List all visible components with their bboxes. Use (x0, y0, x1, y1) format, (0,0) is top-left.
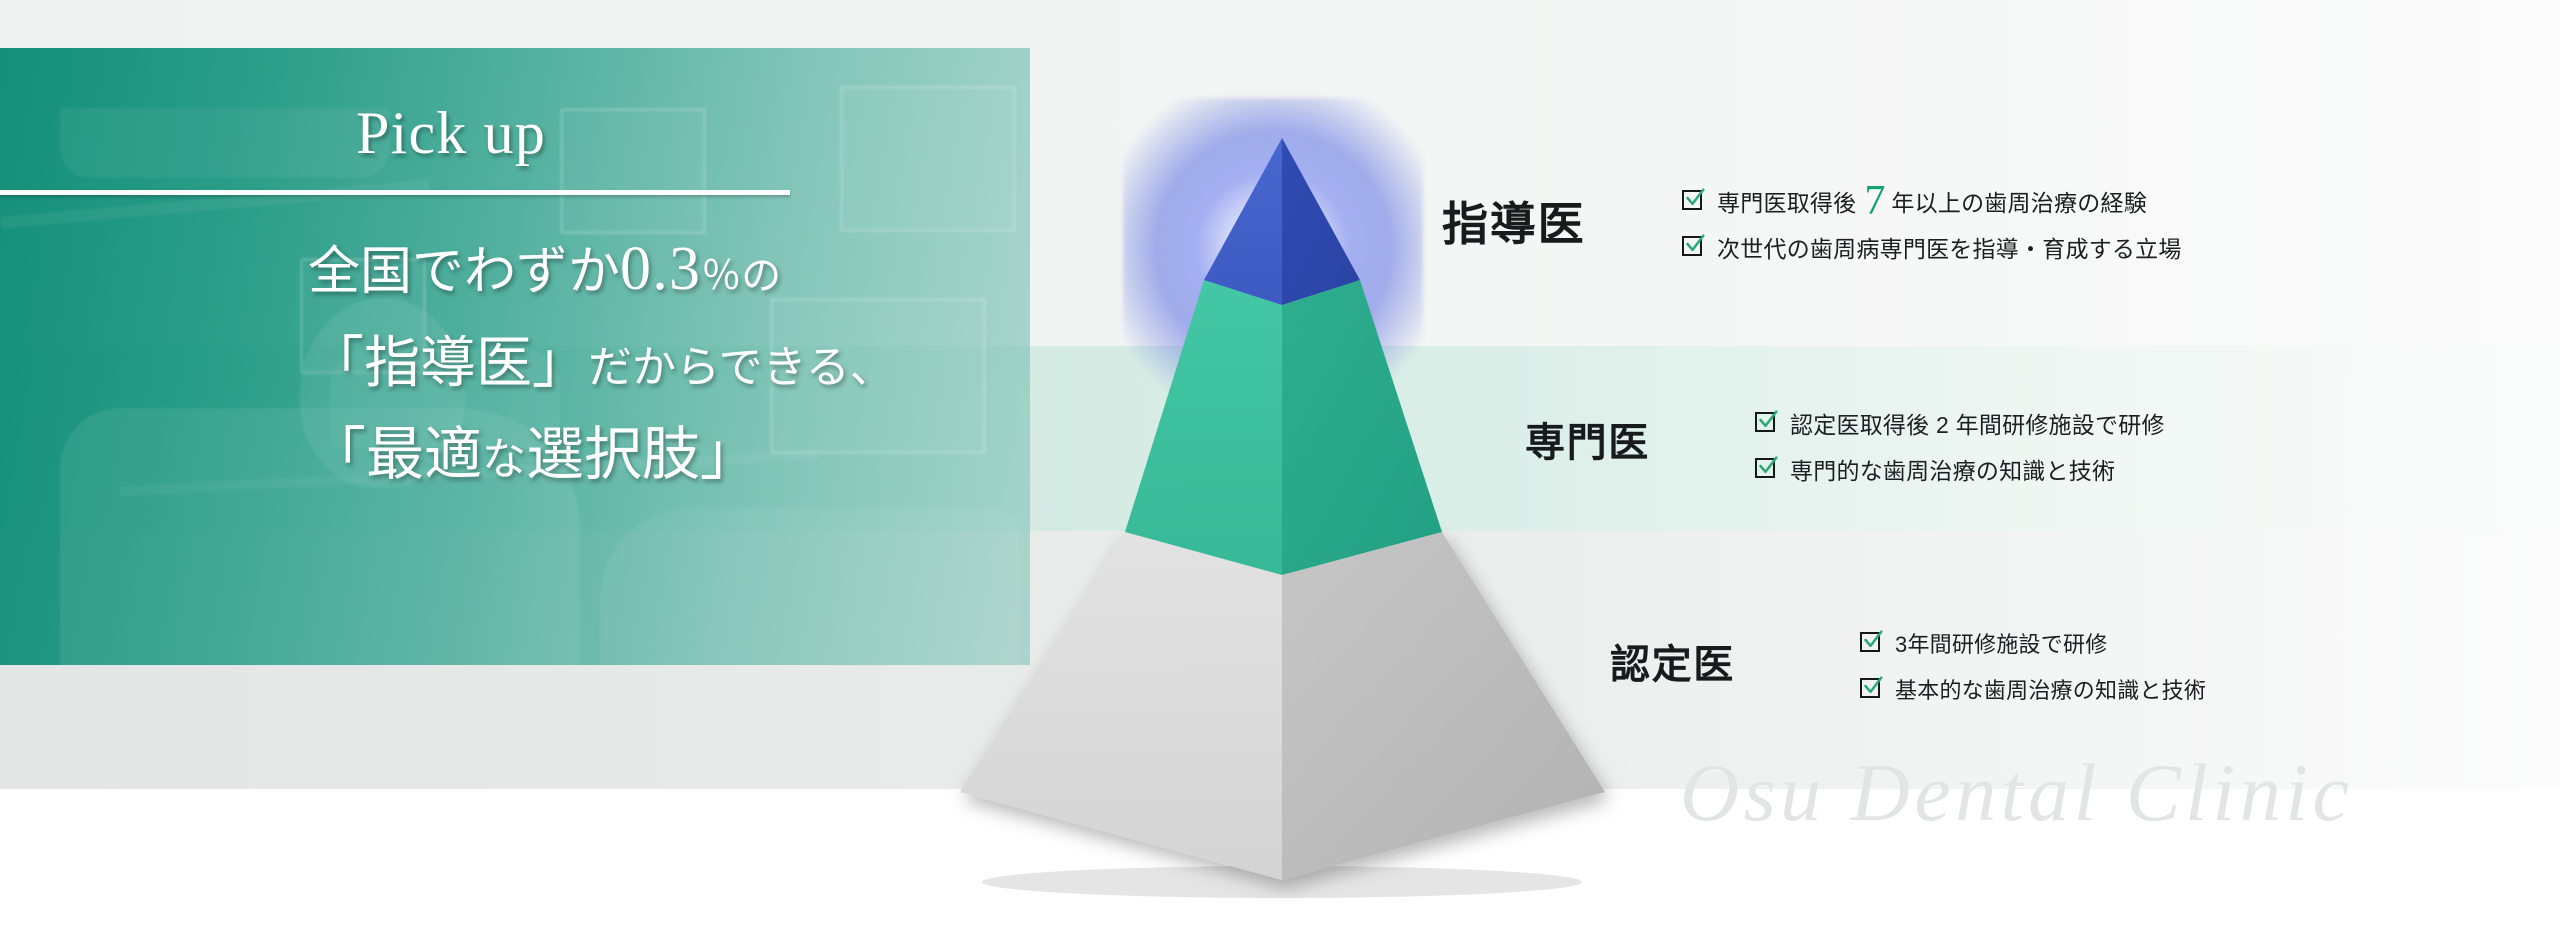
headline-3-a: 最適 (366, 422, 482, 487)
tier-group-shidoui: 指導医 専門医取得後 7 年以上の歯周治療の経験 次世代の歯周病専門医を指導・育… (1682, 178, 2182, 270)
tier-items-senmoni: 認定医取得後 2 年間研修施設で研修 専門的な歯周治療の知識と技術 (1755, 400, 2165, 492)
clinic-watermark: Osu Dental Clinic (1680, 746, 2353, 840)
checkbox-checked-icon (1682, 236, 1704, 258)
headline-3-open-quote: 「 (308, 422, 366, 487)
tier-item: 専門的な歯周治療の知識と技術 (1755, 446, 2165, 492)
tier-item-text-pre: 基本的な歯周治療の知識と技術 (1895, 673, 2206, 705)
tier-label-shidoui: 指導医 (1442, 188, 1586, 254)
tier-item-text-pre: 認定医取得後 2 年間研修施設で研修 (1790, 406, 2165, 440)
tier-item: 次世代の歯周病専門医を指導・育成する立場 (1682, 224, 2182, 270)
headline-1-pre: 全国でわずか (308, 244, 620, 301)
tier-group-senmoni: 専門医 認定医取得後 2 年間研修施設で研修 専門的な歯周治療の知識と技術 (1755, 400, 2165, 492)
headline-line-2: 「指導医」だからできる、 (0, 336, 1030, 392)
pyramid-apex-left-face (1204, 138, 1282, 305)
tier-item: 基本的な歯周治療の知識と技術 (1860, 666, 2206, 712)
checkbox-checked-icon (1860, 632, 1882, 654)
headline-block: 全国でわずか0.3％の 「指導医」だからできる、 「最適な選択肢」 (0, 238, 1030, 484)
headline-3-c: 選択肢 (526, 422, 700, 487)
pyramid-mid-right-face (1282, 280, 1442, 575)
eyebrow-divider (0, 190, 790, 195)
headline-2-close-quote: 」 (532, 333, 588, 395)
tier-item: 専門医取得後 7 年以上の歯周治療の経験 (1682, 178, 2182, 224)
eyebrow-pickup: Pick up (356, 103, 546, 163)
headline-2-tail: だからできる、 (588, 343, 894, 392)
headline-1-number: 0.3 (620, 235, 701, 303)
pyramid-base-left-face (960, 532, 1282, 880)
pyramid-apex-right-face (1282, 138, 1360, 305)
checkbox-checked-icon (1860, 678, 1882, 700)
headline-1-post: ％の (701, 253, 781, 298)
headline-line-3: 「最適な選択肢」 (0, 426, 1030, 484)
headline-2-open-quote: 「 (308, 333, 364, 395)
tier-item-text-pre: 次世代の歯周病専門医を指導・育成する立場 (1717, 230, 2182, 264)
tier-item-text-post: 年以上の歯周治療の経験 (1891, 184, 2147, 218)
tier-label-ninteii: 認定医 (1610, 632, 1735, 690)
tier-item-text-pre: 3年間研修施設で研修 (1895, 627, 2107, 659)
checkbox-checked-icon (1755, 412, 1777, 434)
pyramid-base-right-face (1282, 532, 1605, 880)
tier-item: 認定医取得後 2 年間研修施設で研修 (1755, 400, 2165, 446)
tier-item-text-pre: 専門的な歯周治療の知識と技術 (1790, 452, 2115, 486)
headline-3-b: な (482, 435, 526, 484)
checkbox-checked-icon (1755, 458, 1777, 480)
hero-banner: Pick up 全国でわずか0.3％の 「指導医」だからできる、 「最適な選択肢… (0, 0, 2560, 928)
tier-label-senmoni: 専門医 (1525, 410, 1650, 468)
tier-items-shidoui: 専門医取得後 7 年以上の歯周治療の経験 次世代の歯周病専門医を指導・育成する立… (1682, 178, 2182, 270)
tier-group-ninteii: 認定医 3年間研修施設で研修 基本的な歯周治療の知識と技術 (1860, 620, 2206, 712)
headline-line-1: 全国でわずか0.3％の (0, 238, 1030, 300)
tier-item: 3年間研修施設で研修 (1860, 620, 2206, 666)
tier-item-text-pre: 専門医取得後 (1717, 184, 1856, 218)
tier-items-ninteii: 3年間研修施設で研修 基本的な歯周治療の知識と技術 (1860, 620, 2206, 712)
headline-3-close-quote: 」 (700, 422, 758, 487)
headline-2-key: 指導医 (364, 333, 532, 395)
checkbox-checked-icon (1682, 190, 1704, 212)
pyramid-mid-left-face (1125, 280, 1282, 575)
